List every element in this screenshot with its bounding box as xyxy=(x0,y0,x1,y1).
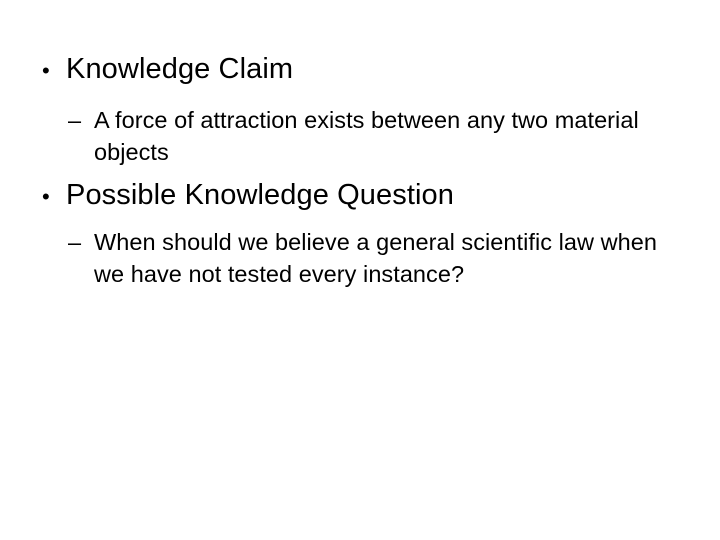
bullet-level2-force-of-attraction: – A force of attraction exists between a… xyxy=(0,104,720,168)
bullet-level2-label: A force of attraction exists between any… xyxy=(94,104,660,168)
bullet-dash-icon: – xyxy=(68,226,94,258)
bullet-dash-icon: – xyxy=(68,104,94,136)
bullet-level1-label: Possible Knowledge Question xyxy=(66,178,720,212)
bullet-dot-icon: • xyxy=(42,180,66,214)
bullet-level1-knowledge-claim: • Knowledge Claim xyxy=(0,52,720,88)
bullet-level1-possible-knowledge-question: • Possible Knowledge Question xyxy=(0,178,720,214)
bullet-dot-icon: • xyxy=(42,54,66,88)
bullet-level2-when-should-we-believe: – When should we believe a general scien… xyxy=(0,226,720,290)
bullet-level1-label: Knowledge Claim xyxy=(66,52,720,86)
slide-canvas: • Knowledge Claim – A force of attractio… xyxy=(0,0,720,540)
bullet-level2-label: When should we believe a general scienti… xyxy=(94,226,660,290)
